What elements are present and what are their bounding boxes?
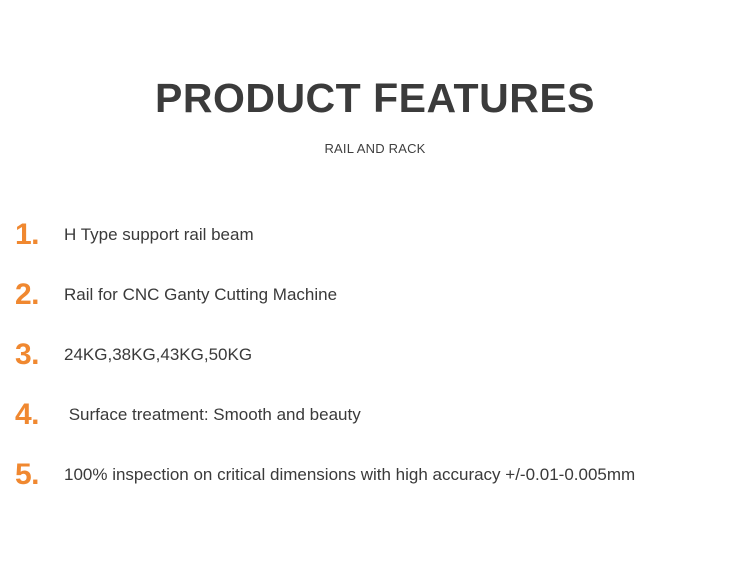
list-item-label: Surface treatment: Smooth and beauty	[64, 404, 750, 425]
list-item-label: 24KG,38KG,43KG,50KG	[64, 344, 750, 365]
list-item: 5. 100% inspection on critical dimension…	[0, 445, 750, 505]
slide-header: PRODUCT FEATURES RAIL AND RACK	[0, 78, 750, 155]
list-item: 3. 24KG,38KG,43KG,50KG	[0, 325, 750, 385]
list-item-number: 2.	[15, 280, 64, 310]
list-item-number: 5.	[15, 460, 64, 490]
feature-list: 1. H Type support rail beam 2. Rail for …	[0, 205, 750, 505]
list-item-number: 4.	[15, 400, 64, 430]
list-item-label: H Type support rail beam	[64, 224, 750, 245]
list-item-number: 3.	[15, 340, 64, 370]
list-item-number: 1.	[15, 220, 64, 250]
list-item-label: Rail for CNC Ganty Cutting Machine	[64, 284, 750, 305]
list-item-label: 100% inspection on critical dimensions w…	[64, 464, 750, 485]
list-item: 2. Rail for CNC Ganty Cutting Machine	[0, 265, 750, 325]
page-title: PRODUCT FEATURES	[0, 78, 750, 119]
product-features-slide: PRODUCT FEATURES RAIL AND RACK 1. H Type…	[0, 0, 750, 579]
page-subtitle: RAIL AND RACK	[0, 142, 750, 155]
list-item: 1. H Type support rail beam	[0, 205, 750, 265]
list-item: 4. Surface treatment: Smooth and beauty	[0, 385, 750, 445]
